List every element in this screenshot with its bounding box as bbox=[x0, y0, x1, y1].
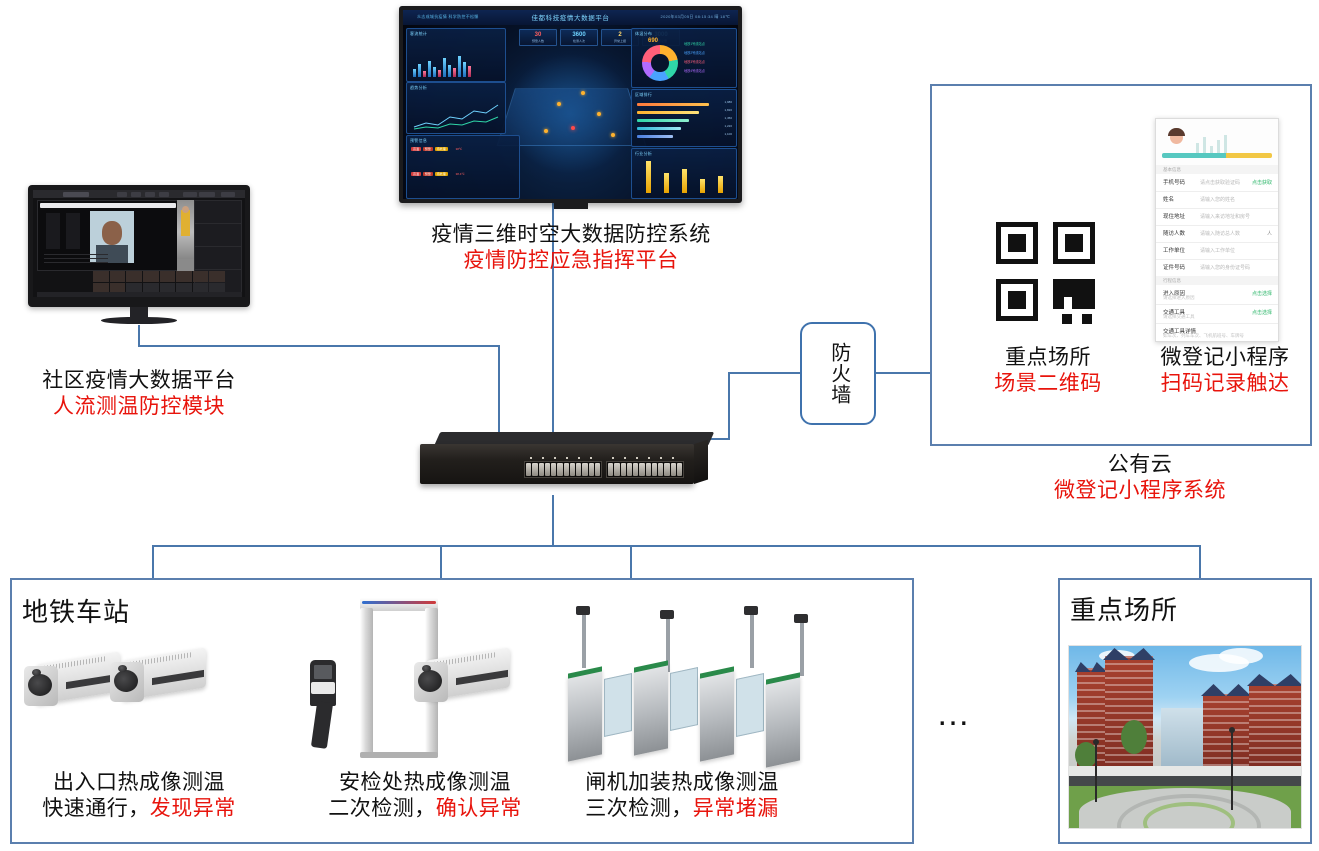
monitor-caption-line2: 人流测温防控模块 bbox=[8, 394, 270, 420]
device-caption-3-red: 异常堵漏 bbox=[693, 797, 779, 820]
dashboard-caption-line1: 疫情三维时空大数据防控系统 bbox=[392, 222, 750, 248]
line-bus-to-metro-3 bbox=[630, 545, 632, 579]
trend-line-chart bbox=[408, 97, 504, 131]
form-placeholder[interactable]: 请输入工作单位 bbox=[1200, 247, 1235, 254]
form-section-basic: 基本信息 bbox=[1156, 165, 1278, 174]
device-caption-2-prefix: 二次检测， bbox=[328, 797, 436, 820]
miniapp-hero bbox=[1156, 119, 1278, 165]
vms-thumbnail-strip[interactable] bbox=[93, 271, 225, 293]
cloud-caption: 公有云 微登记小程序系统 bbox=[1000, 452, 1280, 503]
port-led bbox=[636, 457, 638, 459]
hero-band bbox=[1162, 153, 1272, 158]
street-lamp bbox=[1231, 732, 1233, 810]
qr-caption-line1: 重点场所 bbox=[955, 345, 1141, 371]
form-label: 手机号码 bbox=[1163, 178, 1185, 186]
port-bank-right bbox=[606, 461, 684, 478]
bar-chart bbox=[413, 55, 471, 77]
map-hotspot-alert bbox=[571, 126, 575, 130]
donut-legend: 地铁1号线站点 bbox=[684, 41, 705, 46]
dashboard-display: 众志成城抗疫情 科学防控不松懈 佳都科技疫情大数据平台 2020年03月05日 … bbox=[403, 10, 738, 199]
vms-screen bbox=[33, 190, 245, 297]
alert-temp: 38℃ bbox=[456, 147, 463, 151]
miniapp-phone: 基本信息 手机号码 请点击获取验证码 点击获取 姓名 请输入您的姓名 现住地址 … bbox=[1155, 118, 1279, 342]
gate-camera-icon bbox=[744, 606, 758, 615]
form-placeholder[interactable]: 请输入随访总人数 bbox=[1200, 230, 1240, 237]
device-caption-2-red: 确认异常 bbox=[436, 797, 522, 820]
gate-camera-icon bbox=[576, 606, 590, 615]
dashboard-header: 众志成城抗疫情 科学防控不松懈 佳都科技疫情大数据平台 2020年03月05日 … bbox=[403, 10, 738, 26]
map-hotspot bbox=[581, 91, 585, 95]
line-firewall-to-cloud bbox=[870, 372, 932, 374]
rank-value: 1,100 bbox=[724, 132, 732, 136]
key-place-title: 重点场所 bbox=[1070, 590, 1178, 627]
donut-legend: 地铁3号线站点 bbox=[684, 59, 705, 64]
alert-item: 高温 预警 待处理 38℃ bbox=[411, 147, 462, 151]
alert-tag: 待处理 bbox=[435, 147, 448, 151]
dashboard-stand bbox=[554, 203, 588, 209]
miniapp-caption: 微登记小程序 扫码记录触达 bbox=[1130, 345, 1319, 396]
device-caption-2-line1: 安检处热成像测温 bbox=[300, 770, 550, 796]
alert-tag: 高温 bbox=[411, 172, 421, 176]
panel-temperature-distribution: 体温分布 690 地铁1号线站点 地铁2号线站点 地铁3号线站点 地铁4号线站点 bbox=[631, 28, 737, 88]
firewall-label: 防火墙 bbox=[827, 342, 849, 405]
panel-ranking: 区域排行 1,986 1,820 1,450 1,220 1,100 bbox=[631, 89, 737, 147]
kpi-value: 30 bbox=[523, 32, 553, 38]
dashboard-caption: 疫情三维时空大数据防控系统 疫情防控应急指挥平台 bbox=[392, 222, 750, 273]
form-row: 交通工具详情 如车次、列车车次、飞机航班号、车牌号 bbox=[1156, 323, 1278, 341]
port-led bbox=[648, 457, 650, 459]
avatar-icon bbox=[1170, 131, 1183, 144]
form-section-trip: 行程信息 bbox=[1156, 276, 1278, 285]
alert-tag: 预警 bbox=[423, 147, 433, 151]
device-caption-1-red: 发现异常 bbox=[150, 797, 236, 820]
port-led bbox=[612, 457, 614, 459]
form-placeholder[interactable]: 请点击获取验证码 bbox=[1200, 179, 1240, 186]
yellow-bar-chart bbox=[640, 159, 732, 193]
alert-tag: 高温 bbox=[411, 147, 421, 151]
port-led bbox=[624, 457, 626, 459]
port-bank-left bbox=[524, 461, 602, 478]
panel-title: 趋势分析 bbox=[410, 85, 427, 91]
form-placeholder[interactable]: 请选择进入原因 bbox=[1163, 295, 1195, 301]
gate-camera-icon bbox=[794, 614, 808, 623]
port-led bbox=[578, 457, 580, 459]
map-hotspot bbox=[557, 102, 561, 106]
cloud-caption-line1: 公有云 bbox=[1000, 452, 1280, 478]
panel-title: 体温分布 bbox=[635, 31, 652, 37]
alert-temp: 38.4℃ bbox=[456, 172, 465, 176]
qr-data-dot bbox=[1062, 314, 1072, 324]
line-bus-to-metro-2 bbox=[440, 545, 442, 579]
qr-data-block bbox=[1072, 279, 1095, 309]
key-place-photo bbox=[1068, 645, 1302, 829]
metro-station-title: 地铁车站 bbox=[22, 592, 130, 629]
qr-data-dot bbox=[1082, 314, 1092, 324]
form-label: 证件号码 bbox=[1163, 263, 1185, 271]
miniapp-caption-line1: 微登记小程序 bbox=[1130, 345, 1319, 371]
form-placeholder[interactable]: 请输入您的身份证号码 bbox=[1200, 264, 1250, 271]
network-switch bbox=[420, 432, 708, 494]
rank-value: 1,820 bbox=[724, 108, 732, 112]
panel-title: 预警信息 bbox=[410, 138, 427, 144]
qr-caption-line2: 场景二维码 bbox=[955, 371, 1141, 397]
firewall-box: 防火墙 bbox=[800, 322, 876, 425]
qr-code bbox=[996, 222, 1100, 326]
thermal-camera-2 bbox=[108, 648, 218, 718]
device-caption-3: 闸机加装热成像测温 三次检测，异常堵漏 bbox=[552, 770, 812, 821]
device-caption-3-line2: 三次检测，异常堵漏 bbox=[552, 796, 812, 822]
panel-alerts: 预警信息 高温 预警 待处理 38℃ 高温 预警 待处理 38.4℃ bbox=[406, 135, 520, 199]
form-placeholder[interactable]: 请输入您的姓名 bbox=[1200, 196, 1235, 203]
line-monitor-drop bbox=[138, 325, 140, 347]
donut-chart bbox=[642, 45, 678, 81]
form-row: 手机号码 请点击获取验证码 点击获取 bbox=[1156, 174, 1278, 192]
qr-finder-top-right bbox=[1053, 222, 1095, 264]
qr-finder-top-left bbox=[996, 222, 1038, 264]
rank-value: 1,220 bbox=[724, 124, 732, 128]
form-unit: 人 bbox=[1267, 230, 1272, 237]
rank-value: 1,450 bbox=[724, 116, 732, 120]
panel-trend: 趋势分析 bbox=[406, 82, 506, 134]
port-led bbox=[590, 457, 592, 459]
form-row: 进入原因 点击选择 请选择进入原因 bbox=[1156, 285, 1278, 305]
speed-gate-group bbox=[560, 610, 830, 760]
form-placeholder[interactable]: 请输入来访地址和房号 bbox=[1200, 213, 1250, 220]
thermal-camera-3 bbox=[412, 648, 522, 718]
panel-title: 区域排行 bbox=[635, 92, 652, 98]
device-caption-2-line2: 二次检测，确认异常 bbox=[300, 796, 550, 822]
switch-side-face bbox=[694, 439, 708, 484]
form-label: 现住地址 bbox=[1163, 212, 1185, 220]
kpi-label: 检测人次 bbox=[564, 39, 594, 43]
device-caption-2: 安检处热成像测温 二次检测，确认异常 bbox=[300, 770, 550, 821]
device-caption-1-prefix: 快速通行， bbox=[42, 797, 150, 820]
donut-value: 690 bbox=[648, 38, 658, 44]
device-caption-3-line1: 闸机加装热成像测温 bbox=[552, 770, 812, 796]
port-led bbox=[566, 457, 568, 459]
alert-tag: 预警 bbox=[423, 172, 433, 176]
form-label: 姓名 bbox=[1163, 195, 1174, 203]
kpi-card: 30 预警人数 bbox=[519, 29, 557, 46]
monitor-bezel bbox=[28, 185, 250, 307]
kpi-card: 3600 检测人次 bbox=[560, 29, 598, 46]
qr-data-block bbox=[1053, 290, 1064, 309]
port-led bbox=[660, 457, 662, 459]
panel-industry: 行业分析 bbox=[631, 148, 737, 199]
monitor-caption-line1: 社区疫情大数据平台 bbox=[8, 368, 270, 394]
device-caption-1-line2: 快速通行，发现异常 bbox=[14, 796, 264, 822]
line-monitor-to-bus bbox=[138, 345, 500, 347]
form-action[interactable]: 点击选择 bbox=[1252, 309, 1272, 316]
form-row: 证件号码 请输入您的身份证号码 bbox=[1156, 259, 1278, 277]
line-bottom-bus bbox=[152, 545, 1200, 547]
dashboard-bezel: 众志成城抗疫情 科学防控不松懈 佳都科技疫情大数据平台 2020年03月05日 … bbox=[399, 6, 742, 203]
form-action[interactable]: 点击获取 bbox=[1252, 179, 1272, 186]
form-label: 随访人数 bbox=[1163, 229, 1185, 237]
vms-toolbar bbox=[33, 190, 245, 198]
line-bus-to-metro-1 bbox=[152, 545, 154, 579]
form-row: 交通工具 点击选择 请选择交通工具 bbox=[1156, 304, 1278, 324]
kpi-label: 预警人数 bbox=[523, 39, 553, 43]
line-bus-to-place bbox=[1199, 545, 1201, 579]
form-row: 现住地址 请输入来访地址和房号 bbox=[1156, 208, 1278, 226]
donut-legend: 地铁4号线站点 bbox=[684, 68, 705, 73]
form-action[interactable]: 点击选择 bbox=[1252, 290, 1272, 297]
dashboard-header-right: 2020年03月05日 08:15:34 晴 18℃ bbox=[661, 14, 730, 20]
gate-camera-icon bbox=[660, 610, 674, 619]
form-row: 工作单位 请输入工作单位 bbox=[1156, 242, 1278, 260]
alert-tag: 待处理 bbox=[435, 172, 448, 176]
map-hotspot bbox=[611, 133, 615, 137]
rank-value: 1,986 bbox=[724, 100, 732, 104]
donut-legend: 地铁2号线站点 bbox=[684, 50, 705, 55]
cloud-caption-line2: 微登记小程序系统 bbox=[1000, 478, 1280, 504]
qr-finder-bottom-left bbox=[996, 279, 1038, 321]
street-lamp bbox=[1095, 744, 1097, 802]
more-devices-ellipsis: … bbox=[936, 695, 974, 734]
form-row: 姓名 请输入您的姓名 bbox=[1156, 191, 1278, 209]
community-monitor bbox=[28, 185, 250, 325]
kpi-value: 3600 bbox=[564, 32, 594, 38]
hero-chart-illustration bbox=[1194, 133, 1234, 153]
vms-main-view bbox=[37, 200, 179, 271]
port-led bbox=[554, 457, 556, 459]
switch-front-face bbox=[420, 444, 694, 484]
form-placeholder[interactable]: 请选择交通工具 bbox=[1163, 314, 1195, 320]
qr-caption: 重点场所 场景二维码 bbox=[955, 345, 1141, 396]
device-caption-1-line1: 出入口热成像测温 bbox=[14, 770, 264, 796]
monitor-caption: 社区疫情大数据平台 人流测温防控模块 bbox=[8, 368, 270, 419]
form-row: 随访人数 请输入随访总人数 人 bbox=[1156, 225, 1278, 243]
port-led bbox=[672, 457, 674, 459]
dashboard-caption-line2: 疫情防控应急指挥平台 bbox=[392, 248, 750, 274]
device-caption-3-prefix: 三次检测， bbox=[585, 797, 693, 820]
dashboard-body: 30 预警人数 3600 检测人次 2 异常上报 3000 通行总量 bbox=[403, 25, 738, 199]
handheld-thermometer bbox=[310, 660, 340, 756]
dashboard-screen: 众志成城抗疫情 科学防控不松懈 佳都科技疫情大数据平台 2020年03月05日 … bbox=[399, 6, 742, 203]
port-led bbox=[530, 457, 532, 459]
line-switch-down bbox=[552, 495, 554, 545]
vms-search-bar[interactable] bbox=[40, 203, 176, 208]
panel-title: 客流统计 bbox=[410, 31, 427, 37]
line-firewall-riser bbox=[728, 372, 730, 440]
panel-title: 行业分析 bbox=[635, 151, 652, 157]
alert-item: 高温 预警 待处理 38.4℃ bbox=[411, 172, 465, 176]
line-firewall-in bbox=[728, 372, 800, 374]
form-placeholder[interactable]: 如车次、列车车次、飞机航班号、车牌号 bbox=[1163, 333, 1244, 339]
panel-passenger-flow: 客流统计 bbox=[406, 28, 506, 82]
monitor-base bbox=[101, 317, 177, 324]
form-label: 工作单位 bbox=[1163, 246, 1185, 254]
miniapp-caption-line2: 扫码记录触达 bbox=[1130, 371, 1319, 397]
vms-statusbar bbox=[37, 292, 242, 297]
port-led bbox=[542, 457, 544, 459]
device-caption-1: 出入口热成像测温 快速通行，发现异常 bbox=[14, 770, 264, 821]
